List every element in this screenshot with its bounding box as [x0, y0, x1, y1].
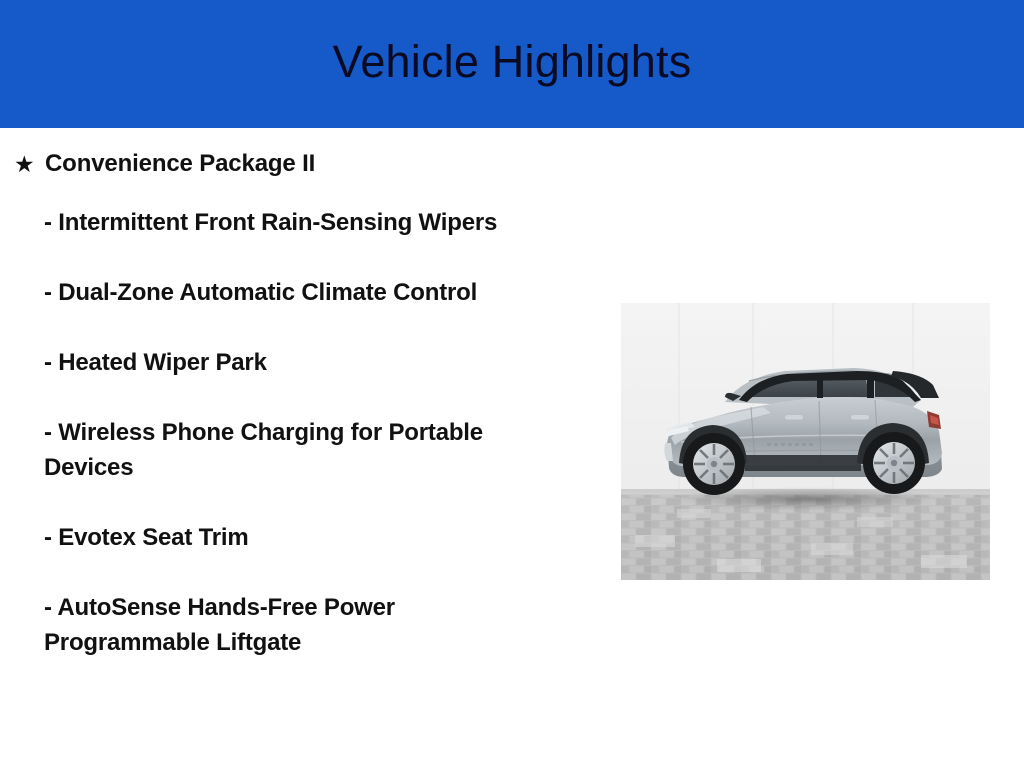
list-item: - Heated Wiper Park — [44, 345, 549, 380]
list-item: - Dual-Zone Automatic Climate Control — [44, 275, 549, 310]
feature-list: ★ Convenience Package II - Intermittent … — [0, 128, 600, 695]
vehicle-illustration — [621, 303, 990, 580]
list-item: - Intermittent Front Rain-Sensing Wipers — [44, 205, 549, 240]
package-heading-row: ★ Convenience Package II — [0, 150, 600, 178]
slide-header-bar: Vehicle Highlights — [0, 0, 1024, 128]
list-item: - AutoSense Hands-Free Power Programmabl… — [44, 590, 549, 660]
vehicle-photo — [621, 303, 990, 580]
list-item: - Wireless Phone Charging for Portable D… — [44, 415, 549, 485]
star-bullet-icon: ★ — [14, 150, 45, 178]
slide-content-area: ★ Convenience Package II - Intermittent … — [0, 128, 1024, 768]
package-title: Convenience Package II — [45, 150, 315, 178]
page-title: Vehicle Highlights — [333, 39, 692, 84]
list-item: - Evotex Seat Trim — [44, 520, 549, 555]
